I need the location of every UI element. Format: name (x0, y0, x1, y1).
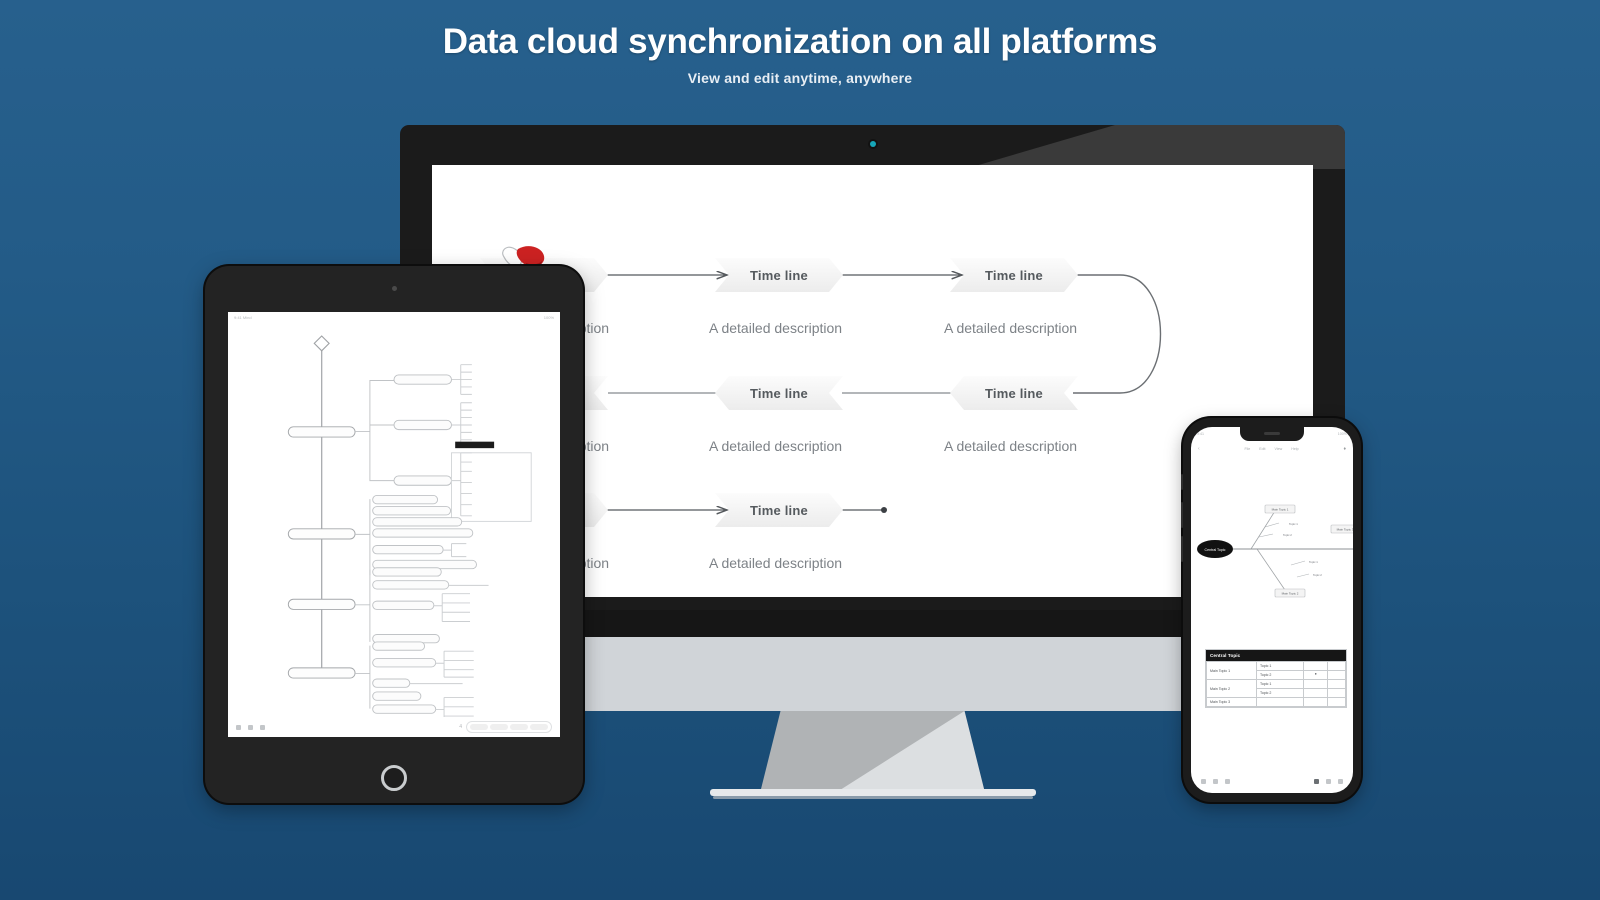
share-icon[interactable]: ♦ (1343, 446, 1346, 452)
timeline-node-description: A detailed description (709, 555, 842, 571)
tablet-zoom-controls[interactable] (466, 721, 552, 733)
phone-toolbar-left[interactable] (1201, 779, 1230, 784)
table-cell-topic2[interactable] (1304, 662, 1328, 671)
phone-top-toolbar[interactable]: ‹ File Edit View Help ♦ (1191, 441, 1353, 457)
zoom-in-button[interactable] (510, 724, 528, 730)
zoom-out-button[interactable] (470, 724, 488, 730)
table-cell-topic3[interactable] (1327, 680, 1345, 689)
tablet-statusbar: 9:41 Mind 100% (228, 312, 560, 323)
table-cell-topic3[interactable] (1327, 698, 1345, 707)
phone-volume-up-button[interactable] (1181, 502, 1183, 528)
tablet-statusbar-right: 100% (544, 315, 554, 320)
page-title: Data cloud synchronization on all platfo… (0, 22, 1600, 62)
svg-text:Topic 2: Topic 2 (1283, 533, 1292, 537)
menu-item-edit[interactable]: Edit (1259, 447, 1265, 451)
phone-bottom-toolbar[interactable] (1191, 772, 1353, 790)
tablet-body: 9:41 Mind 100% (205, 266, 583, 803)
svg-text:Main Topic 3: Main Topic 3 (1337, 528, 1353, 532)
table-cell-topic3[interactable] (1327, 662, 1345, 671)
phone-table[interactable]: Central Topic Main Topic 1 Topic 1 Topic… (1205, 649, 1347, 708)
monitor-base-shadow (713, 796, 1033, 799)
table-cell-main[interactable]: Main Topic 2 (1207, 680, 1257, 698)
redo-icon[interactable] (248, 725, 253, 730)
svg-text:Topic 1: Topic 1 (1309, 560, 1318, 564)
table-title: Central Topic (1206, 650, 1346, 661)
home-button[interactable] (381, 765, 407, 791)
pen-icon[interactable] (1314, 779, 1319, 784)
phone-volume-down-button[interactable] (1181, 536, 1183, 562)
timeline-node[interactable]: Time line (715, 493, 843, 527)
fishbone-central-label: Central Topic (1205, 548, 1226, 552)
svg-text:Main Topic 2: Main Topic 2 (1282, 592, 1299, 596)
table-cell-sub[interactable]: Topic 1 (1257, 680, 1304, 689)
phone-mute-button[interactable] (1181, 474, 1183, 490)
phone-toolbar-right[interactable] (1314, 779, 1343, 784)
phone-speaker-icon (1264, 432, 1280, 435)
phone-menu-items[interactable]: File Edit View Help (1244, 447, 1298, 451)
table-cell-main[interactable]: Main Topic 3 (1207, 698, 1257, 707)
monitor-base (710, 789, 1036, 796)
table-row[interactable]: Main Topic 1 Topic 1 (1207, 662, 1346, 671)
table-cell-topic3[interactable] (1327, 671, 1345, 680)
phone-notch (1240, 427, 1304, 441)
status-dot-marker: ● (1304, 671, 1328, 680)
redo-icon[interactable] (1213, 779, 1218, 784)
tablet-toolbar-right[interactable]: 4 (459, 721, 552, 733)
fit-button[interactable] (490, 724, 508, 730)
table-cell-sub[interactable] (1257, 698, 1304, 707)
back-icon[interactable]: ‹ (1198, 446, 1200, 452)
hero-header: Data cloud synchronization on all platfo… (0, 0, 1600, 86)
tablet-statusbar-left: 9:41 Mind (234, 315, 252, 320)
tablet-camera-icon (392, 286, 397, 291)
mind-map-diagram[interactable] (228, 323, 560, 717)
tablet-toolbar[interactable]: 4 (228, 717, 560, 737)
fishbone-diagram[interactable]: Central Topic Main Topic 1 Topic 1 Topic… (1191, 489, 1353, 609)
menu-item-file[interactable]: File (1244, 447, 1250, 451)
table-cell-sub[interactable]: Topic 2 (1257, 671, 1304, 680)
svg-text:Topic 2: Topic 2 (1313, 573, 1322, 577)
phone-statusbar-battery: 100% (1338, 432, 1347, 436)
smartphone: 9:41 100% ‹ File Edit View Help ♦ Centra… (1183, 418, 1361, 802)
phone-body: 9:41 100% ‹ File Edit View Help ♦ Centra… (1183, 418, 1361, 802)
phone-screen[interactable]: 9:41 100% ‹ File Edit View Help ♦ Centra… (1191, 427, 1353, 793)
link-icon[interactable] (1326, 779, 1331, 784)
tablet-screen[interactable]: 9:41 Mind 100% (228, 312, 560, 737)
table-cell-topic3[interactable] (1327, 689, 1345, 698)
mind-map-root-diamond (314, 336, 329, 351)
table-cell-main[interactable]: Main Topic 1 (1207, 662, 1257, 680)
layout-icon[interactable] (260, 725, 265, 730)
undo-icon[interactable] (236, 725, 241, 730)
menu-item-view[interactable]: View (1274, 447, 1282, 451)
table-body[interactable]: Main Topic 1 Topic 1 Topic 2 ● Main Topi… (1206, 661, 1346, 707)
monitor-camera-led-icon (870, 141, 876, 147)
table-cell-topic2[interactable] (1304, 689, 1328, 698)
tablet-toolbar-count: 4 (459, 724, 462, 730)
phone-statusbar-time: 9:41 (1197, 432, 1204, 436)
undo-icon[interactable] (1201, 779, 1206, 784)
tablet: 9:41 Mind 100% (205, 266, 583, 803)
more-button[interactable] (530, 724, 548, 730)
svg-text:Topic 1: Topic 1 (1289, 522, 1298, 526)
settings-icon[interactable] (1225, 779, 1230, 784)
table-row[interactable]: Main Topic 3 (1207, 698, 1346, 707)
table-cell-sub[interactable]: Topic 2 (1257, 689, 1304, 698)
svg-text:Main Topic 1: Main Topic 1 (1272, 508, 1289, 512)
table-cell-sub[interactable]: Topic 1 (1257, 662, 1304, 671)
table-cell-topic2[interactable] (1304, 680, 1328, 689)
tablet-toolbar-left-icons[interactable] (236, 725, 265, 730)
page-subtitle: View and edit anytime, anywhere (0, 70, 1600, 86)
menu-item-help[interactable]: Help (1291, 447, 1298, 451)
table-row[interactable]: Main Topic 2 Topic 1 (1207, 680, 1346, 689)
share-icon[interactable] (1338, 779, 1343, 784)
monitor-bezel-highlight (965, 125, 1345, 169)
table-cell-topic2[interactable] (1304, 698, 1328, 707)
